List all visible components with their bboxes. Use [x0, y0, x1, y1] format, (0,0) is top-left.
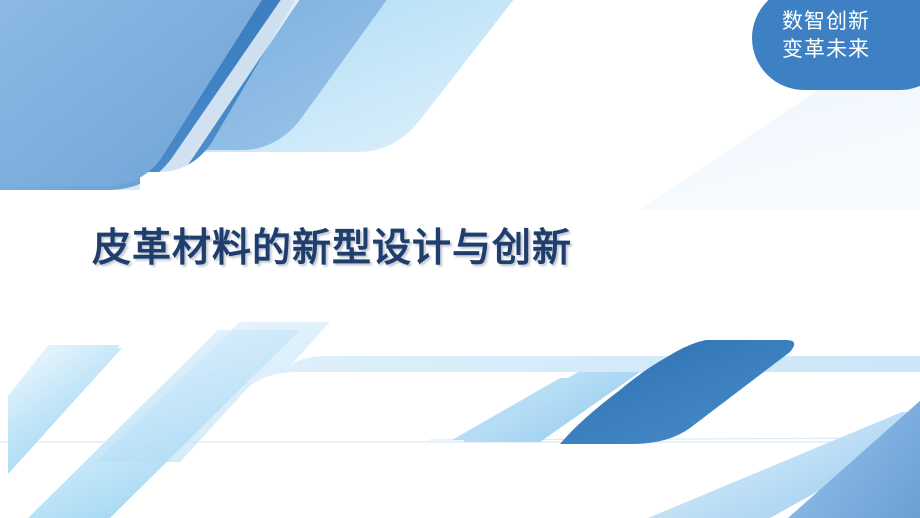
corner-badge-line-2: 变革未来 [782, 36, 920, 64]
corner-badge-line-1: 数智创新 [782, 8, 920, 36]
slide-title: 皮革材料的新型设计与创新 [92, 228, 572, 271]
title-block: 皮革材料的新型设计与创新 [92, 228, 572, 271]
title-slide: 数智创新 变革未来 皮革材料的新型设计与创新 [0, 0, 920, 518]
corner-badge: 数智创新 变革未来 [752, 0, 920, 90]
